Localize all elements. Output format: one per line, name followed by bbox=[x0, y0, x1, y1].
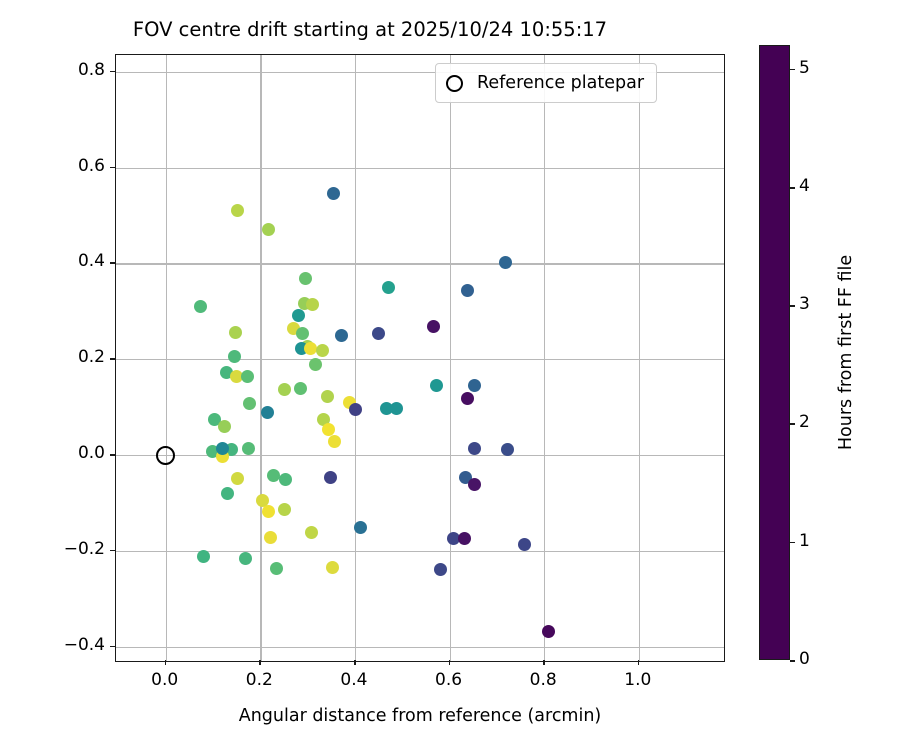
x-tick-label: 0.6 bbox=[409, 670, 489, 690]
gridline-vertical bbox=[166, 55, 167, 661]
scatter-point bbox=[427, 320, 440, 333]
y-tick-mark bbox=[110, 167, 115, 169]
page-title: FOV centre drift starting at 2025/10/24 … bbox=[0, 18, 740, 41]
gridline-horizontal bbox=[116, 359, 724, 360]
y-tick-mark bbox=[110, 454, 115, 456]
scatter-point bbox=[468, 379, 481, 392]
y-tick-label: 0.0 bbox=[78, 443, 105, 463]
scatter-point bbox=[194, 300, 207, 313]
colorbar-tick-mark bbox=[790, 69, 795, 71]
scatter-point bbox=[243, 397, 256, 410]
scatter-point bbox=[468, 478, 481, 491]
scatter-point bbox=[316, 344, 329, 357]
x-tick-label: 0.4 bbox=[314, 670, 394, 690]
y-tick-label: −0.4 bbox=[64, 635, 105, 655]
x-tick-label: 1.0 bbox=[598, 670, 678, 690]
x-tick-mark bbox=[543, 660, 545, 665]
y-tick-label: 0.4 bbox=[78, 251, 105, 271]
scatter-point bbox=[197, 550, 210, 563]
gridline-vertical bbox=[450, 55, 451, 661]
scatter-point bbox=[292, 309, 305, 322]
scatter-point bbox=[294, 382, 307, 395]
colorbar-tick-mark bbox=[790, 423, 795, 425]
scatter-point bbox=[327, 187, 340, 200]
gridline-vertical bbox=[260, 55, 261, 661]
scatter-point bbox=[309, 358, 322, 371]
scatter-point bbox=[228, 350, 241, 363]
scatter-point bbox=[231, 204, 244, 217]
scatter-point bbox=[335, 329, 348, 342]
scatter-point bbox=[229, 326, 242, 339]
scatter-point bbox=[270, 562, 283, 575]
scatter-point bbox=[326, 561, 339, 574]
reference-platepar-legend-icon bbox=[446, 75, 463, 92]
scatter-point bbox=[242, 442, 255, 455]
scatter-point bbox=[264, 531, 277, 544]
scatter-point bbox=[218, 420, 231, 433]
scatter-point bbox=[349, 403, 362, 416]
gridline-vertical bbox=[639, 55, 640, 661]
x-tick-label: 0.8 bbox=[503, 670, 583, 690]
scatter-point bbox=[434, 563, 447, 576]
colorbar[interactable] bbox=[759, 45, 790, 660]
y-tick-label: 0.2 bbox=[78, 347, 105, 367]
scatter-point bbox=[328, 435, 341, 448]
scatter-point bbox=[299, 272, 312, 285]
scatter-point bbox=[305, 526, 318, 539]
scatter-point bbox=[262, 223, 275, 236]
scatter-point bbox=[261, 406, 274, 419]
scatter-point bbox=[461, 284, 474, 297]
legend-item-label: Reference platepar bbox=[477, 73, 644, 93]
reference-platepar-marker[interactable] bbox=[156, 446, 175, 465]
colorbar-tick-label: 5 bbox=[799, 58, 810, 78]
colorbar-tick-mark bbox=[790, 305, 795, 307]
gridline-vertical bbox=[355, 55, 356, 661]
colorbar-tick-label: 4 bbox=[799, 176, 810, 196]
scatter-point bbox=[518, 538, 531, 551]
plot-area bbox=[115, 54, 725, 662]
scatter-point bbox=[278, 503, 291, 516]
y-tick-mark bbox=[110, 550, 115, 552]
scatter-point bbox=[390, 402, 403, 415]
colorbar-gradient bbox=[759, 45, 790, 660]
scatter-point bbox=[279, 473, 292, 486]
y-axis-label-wrap: Rotation from reference (arcmin) bbox=[22, 54, 23, 662]
scatter-point bbox=[296, 327, 309, 340]
x-tick-mark bbox=[354, 660, 356, 665]
y-tick-mark bbox=[110, 358, 115, 360]
colorbar-tick-label: 3 bbox=[799, 294, 810, 314]
y-tick-mark bbox=[110, 646, 115, 648]
scatter-point bbox=[354, 521, 367, 534]
colorbar-tick-mark bbox=[790, 187, 795, 189]
colorbar-tick-label: 2 bbox=[799, 412, 810, 432]
scatter-point bbox=[461, 392, 474, 405]
x-tick-mark bbox=[259, 660, 261, 665]
scatter-point bbox=[231, 472, 244, 485]
colorbar-tick-label: 0 bbox=[799, 649, 810, 669]
x-tick-mark bbox=[638, 660, 640, 665]
figure-canvas: FOV centre drift starting at 2025/10/24 … bbox=[0, 0, 900, 750]
y-tick-mark bbox=[110, 262, 115, 264]
x-tick-mark bbox=[449, 660, 451, 665]
x-tick-label: 0.2 bbox=[219, 670, 299, 690]
scatter-point bbox=[322, 423, 335, 436]
scatter-point bbox=[324, 471, 337, 484]
scatter-point bbox=[542, 625, 555, 638]
scatter-point bbox=[321, 390, 334, 403]
gridline-vertical bbox=[544, 55, 545, 661]
legend[interactable]: Reference platepar bbox=[435, 63, 657, 103]
scatter-point bbox=[278, 383, 291, 396]
colorbar-tick-label: 1 bbox=[799, 531, 810, 551]
scatter-point bbox=[501, 443, 514, 456]
y-tick-label: −0.2 bbox=[64, 539, 105, 559]
colorbar-label: Hours from first FF file bbox=[836, 45, 856, 660]
scatter-point bbox=[306, 298, 319, 311]
scatter-point bbox=[372, 327, 385, 340]
y-tick-mark bbox=[110, 71, 115, 73]
scatter-point bbox=[221, 487, 234, 500]
x-tick-label: 0.0 bbox=[125, 670, 205, 690]
scatter-point bbox=[239, 552, 252, 565]
scatter-point bbox=[499, 256, 512, 269]
x-axis-label: Angular distance from reference (arcmin) bbox=[115, 706, 725, 726]
scatter-point bbox=[241, 370, 254, 383]
scatter-point bbox=[262, 505, 275, 518]
gridline-horizontal bbox=[116, 647, 724, 648]
colorbar-tick-mark bbox=[790, 542, 795, 544]
x-tick-mark bbox=[165, 660, 167, 665]
scatter-point bbox=[382, 281, 395, 294]
scatter-point bbox=[458, 532, 471, 545]
gridline-horizontal bbox=[116, 168, 724, 169]
y-tick-label: 0.8 bbox=[78, 60, 105, 80]
gridline-horizontal bbox=[116, 263, 724, 264]
scatter-point bbox=[430, 379, 443, 392]
y-tick-label: 0.6 bbox=[78, 156, 105, 176]
scatter-point bbox=[468, 442, 481, 455]
colorbar-tick-mark bbox=[790, 660, 795, 662]
scatter-point bbox=[304, 342, 317, 355]
